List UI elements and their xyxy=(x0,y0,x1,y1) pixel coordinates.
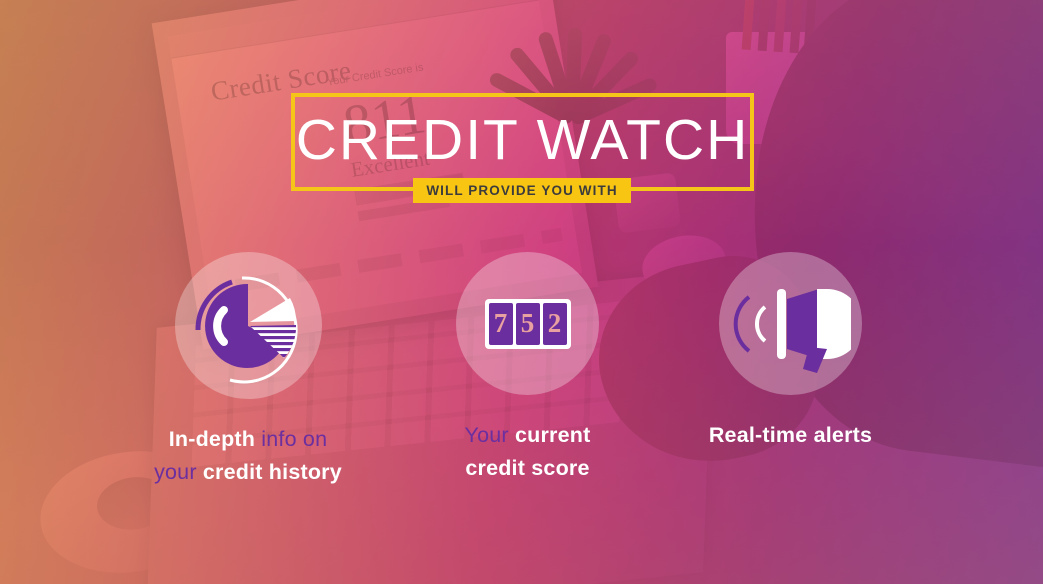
caption-bold-1: current xyxy=(515,423,590,447)
feature-caption: Your current credit score xyxy=(400,419,655,486)
score-tiles-icon: 7 5 2 xyxy=(485,299,571,349)
feature-caption: Real-time alerts xyxy=(663,419,918,452)
feature-icon-circle: 7 5 2 xyxy=(456,252,599,395)
feature-real-time-alerts: Real-time alerts xyxy=(663,252,918,452)
caption-bold-2: credit score xyxy=(465,456,589,480)
feature-caption: In-depth info on your credit history xyxy=(113,423,383,490)
subtitle-banner: WILL PROVIDE YOU WITH xyxy=(413,178,631,203)
caption-plain-2: your xyxy=(154,460,203,484)
title-box: CREDIT WATCH xyxy=(291,93,754,191)
pie-chart-icon xyxy=(186,264,310,388)
caption-bold-2: credit history xyxy=(203,460,342,484)
megaphone-icon xyxy=(731,269,851,379)
features-row: In-depth info on your credit history 7 5… xyxy=(0,252,1043,482)
feature-icon-circle xyxy=(719,252,862,395)
page-title: CREDIT WATCH xyxy=(295,95,750,185)
caption-bold-1: Real-time alerts xyxy=(709,423,872,447)
caption-plain-1: Your xyxy=(465,423,515,447)
subtitle-text: WILL PROVIDE YOU WITH xyxy=(426,183,617,198)
caption-plain-1: info on xyxy=(255,427,327,451)
score-digit-tile: 7 xyxy=(489,303,513,345)
feature-icon-circle xyxy=(175,252,322,399)
slide-canvas: Credit Score Your Credit Score is 811 Ex… xyxy=(0,0,1043,584)
feature-in-depth-info: In-depth info on your credit history xyxy=(113,252,383,490)
score-digit-tile: 5 xyxy=(516,303,540,345)
caption-bold-1: In-depth xyxy=(169,427,255,451)
feature-current-score: 7 5 2 Your current credit score xyxy=(400,252,655,486)
score-digit-tile: 2 xyxy=(543,303,567,345)
